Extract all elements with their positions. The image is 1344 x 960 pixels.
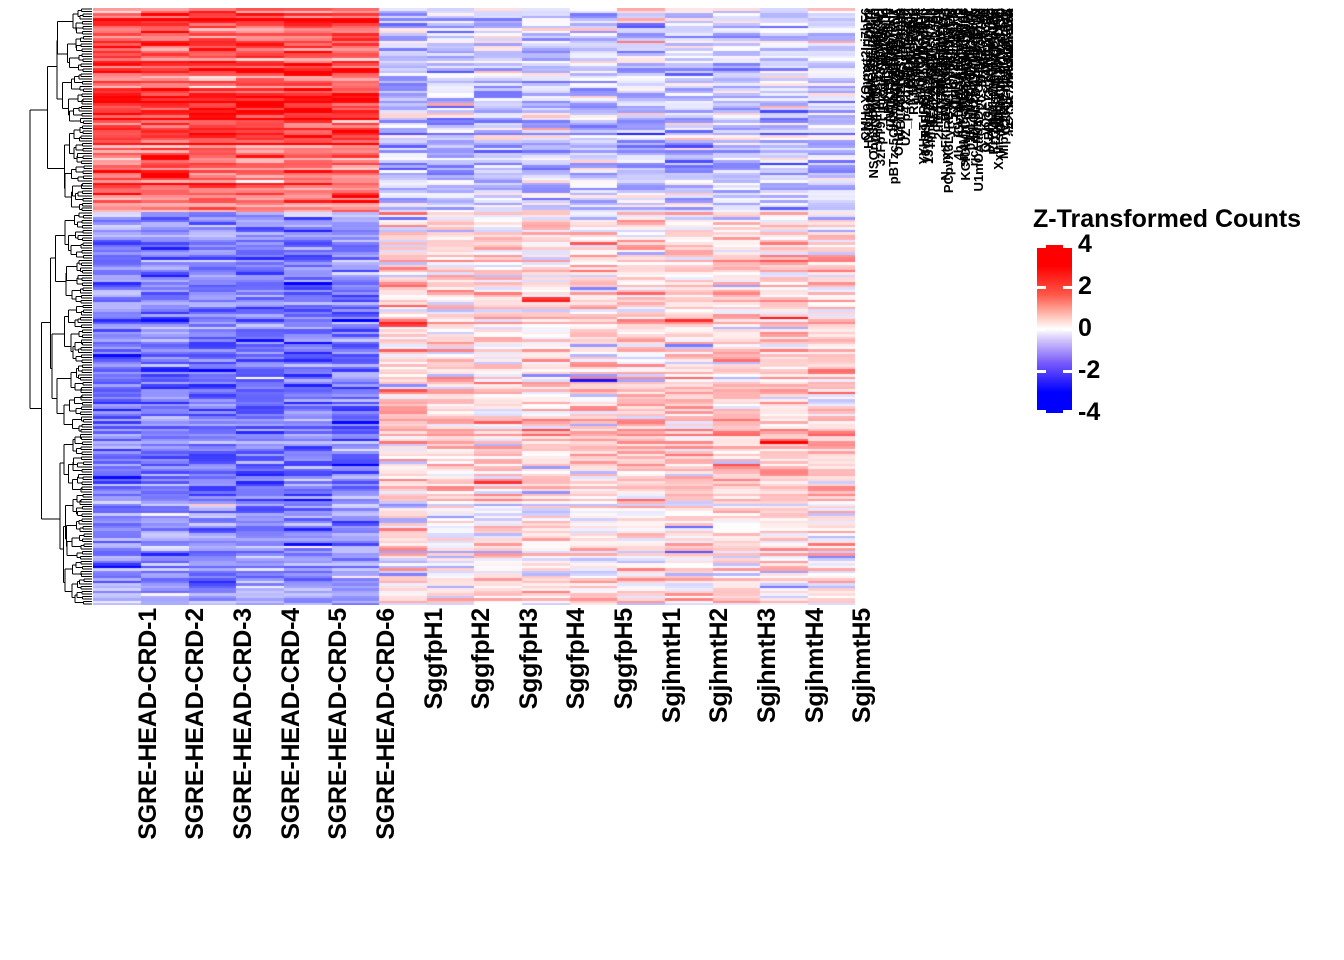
dendrogram-branches bbox=[30, 9, 92, 604]
legend-tick-mark bbox=[1063, 286, 1072, 289]
legend-tick-mark bbox=[1037, 328, 1046, 331]
column-label-axis: SGRE-HEAD-CRD-1SGRE-HEAD-CRD-2SGRE-HEAD-… bbox=[93, 608, 855, 948]
column-label: SGRE-HEAD-CRD-4 bbox=[269, 608, 294, 840]
column-label-text: SGRE-HEAD-CRD-5 bbox=[326, 608, 351, 840]
column-label-text: SGRE-HEAD-CRD-1 bbox=[136, 608, 161, 840]
column-label: SGRE-HEAD-CRD-6 bbox=[364, 608, 389, 840]
column-label: SgjhmtH5 bbox=[840, 608, 865, 723]
column-label-text: SGRE-HEAD-CRD-2 bbox=[183, 608, 208, 840]
column-label-text: SggfpH5 bbox=[612, 608, 637, 709]
legend-tick-mark bbox=[1063, 328, 1072, 331]
legend-tick-label: -2 bbox=[1078, 358, 1100, 383]
legend-tick-mark bbox=[1063, 410, 1072, 413]
column-label: SgjhmtH1 bbox=[650, 608, 675, 723]
legend-tick-mark bbox=[1037, 370, 1046, 373]
column-label-text: SGRE-HEAD-CRD-3 bbox=[231, 608, 256, 840]
legend-title: Z-Transformed Counts bbox=[1033, 205, 1301, 234]
column-label-text: SggfpH2 bbox=[469, 608, 494, 709]
color-legend: Z-Transformed Counts 420-2-4 bbox=[1033, 205, 1333, 420]
column-label: SgjhmtH2 bbox=[697, 608, 722, 723]
column-label-text: SggfpH4 bbox=[564, 608, 589, 709]
legend-tick-label: 2 bbox=[1078, 274, 1092, 299]
column-label: SGRE-HEAD-CRD-5 bbox=[316, 608, 341, 840]
column-label: SGRE-HEAD-CRD-2 bbox=[173, 608, 198, 840]
column-label: SggfpH2 bbox=[459, 608, 484, 709]
legend-tick-label: 4 bbox=[1078, 232, 1092, 257]
column-label: SgjhmtH3 bbox=[745, 608, 770, 723]
legend-tick-mark bbox=[1037, 245, 1046, 248]
column-label: SggfpH3 bbox=[507, 608, 532, 709]
column-label-text: SgjhmtH2 bbox=[707, 608, 732, 723]
row-label-axis: CMHoYQvnxt2Irj7hF6-HXDylouBiBRqdFDpYra8o… bbox=[858, 8, 1013, 608]
column-label: SggfpH1 bbox=[412, 608, 437, 709]
heatmap-matrix[interactable] bbox=[93, 8, 855, 605]
column-label-text: SGRE-HEAD-CRD-4 bbox=[279, 608, 304, 840]
column-label-text: SggfpH3 bbox=[517, 608, 542, 709]
column-label: SggfpH5 bbox=[602, 608, 627, 709]
legend-tick-mark bbox=[1063, 370, 1072, 373]
column-label: SggfpH4 bbox=[554, 608, 579, 709]
column-label-text: SgjhmtH5 bbox=[850, 608, 875, 723]
heatmap-canvas[interactable] bbox=[93, 8, 855, 605]
legend-tick-label: -4 bbox=[1078, 400, 1100, 425]
column-label-text: SgjhmtH1 bbox=[660, 608, 685, 723]
column-label: SGRE-HEAD-CRD-3 bbox=[221, 608, 246, 840]
column-label: SgjhmtH4 bbox=[793, 608, 818, 723]
column-label-text: SGRE-HEAD-CRD-6 bbox=[374, 608, 399, 840]
heatmap-figure: SGRE-HEAD-CRD-1SGRE-HEAD-CRD-2SGRE-HEAD-… bbox=[0, 0, 1344, 960]
column-label-text: SgjhmtH3 bbox=[755, 608, 780, 723]
legend-tick-label: 0 bbox=[1078, 316, 1092, 341]
legend-tick-mark bbox=[1037, 410, 1046, 413]
row-dendrogram bbox=[14, 8, 92, 605]
column-label: SGRE-HEAD-CRD-1 bbox=[126, 608, 151, 840]
legend-tick-mark bbox=[1037, 286, 1046, 289]
column-label-text: SgjhmtH4 bbox=[803, 608, 828, 723]
column-label-text: SggfpH1 bbox=[422, 608, 447, 709]
row-dendrogram-svg bbox=[14, 8, 92, 605]
legend-tick-mark bbox=[1063, 245, 1072, 248]
